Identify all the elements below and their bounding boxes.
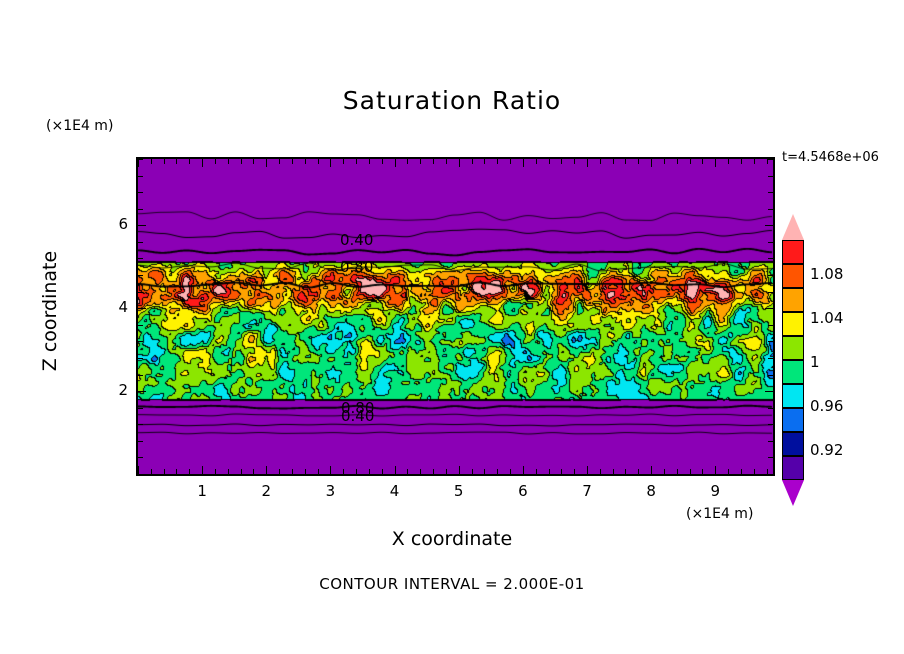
y-tick-left <box>138 209 143 210</box>
x-tick-bottom <box>176 469 177 474</box>
x-tick-top <box>741 159 742 164</box>
x-tick-top <box>228 159 229 164</box>
x-tick-top <box>176 159 177 164</box>
x-tick-bottom <box>369 469 370 474</box>
colorbar-band[interactable] <box>782 360 804 384</box>
y-tick-left <box>138 358 143 359</box>
x-tick-bottom <box>574 469 575 474</box>
x-tick-bottom <box>497 469 498 474</box>
x-tick-bottom <box>382 469 383 474</box>
x-tick-top <box>523 159 524 167</box>
contour-label: 0.40 <box>340 231 373 249</box>
x-tick-top <box>151 159 152 164</box>
colorbar-band[interactable] <box>782 264 804 288</box>
x-tick-bottom <box>510 469 511 474</box>
x-tick-bottom <box>318 469 319 474</box>
y-tick-left <box>138 457 143 458</box>
y-tick-right <box>768 209 773 210</box>
x-tick-bottom <box>292 469 293 474</box>
x-tick-bottom <box>330 466 331 474</box>
x-tick-bottom <box>523 466 524 474</box>
x-tick-top <box>202 159 203 167</box>
y-tick-right <box>768 424 773 425</box>
x-tick-top <box>613 159 614 164</box>
y-tick-right <box>768 375 773 376</box>
x-tick-bottom <box>228 469 229 474</box>
x-tick-top <box>241 159 242 164</box>
x-tick-top <box>677 159 678 164</box>
x-tick-top <box>728 159 729 164</box>
x-tick-top <box>510 159 511 164</box>
x-tick-bottom <box>189 469 190 474</box>
y-tick-left <box>138 292 143 293</box>
y-tick-left <box>138 225 146 226</box>
y-tick-left <box>138 408 143 409</box>
x-tick-top <box>292 159 293 164</box>
y-tick-right <box>765 225 773 226</box>
x-tick-bottom <box>343 469 344 474</box>
y-axis-title: Z coordinate <box>39 231 61 391</box>
x-tick-top <box>638 159 639 164</box>
colorbar-tick-label: 1.04 <box>810 309 843 327</box>
y-tick-right <box>768 441 773 442</box>
x-tick-top <box>715 159 716 167</box>
y-tick-left <box>138 341 143 342</box>
y-tick-left <box>138 308 146 309</box>
x-tick-bottom <box>356 469 357 474</box>
x-tick-label: 1 <box>187 482 217 500</box>
x-tick-top <box>330 159 331 167</box>
y-tick-left <box>138 391 146 392</box>
x-tick-label: 3 <box>315 482 345 500</box>
y-tick-right <box>768 275 773 276</box>
x-tick-top <box>702 159 703 164</box>
colorbar-tick-label: 1 <box>810 353 820 371</box>
x-tick-top <box>484 159 485 164</box>
x-tick-top <box>754 159 755 164</box>
y-tick-right <box>768 358 773 359</box>
x-tick-bottom <box>638 469 639 474</box>
x-tick-top <box>549 159 550 164</box>
x-tick-bottom <box>549 469 550 474</box>
contour-plot[interactable] <box>136 157 775 476</box>
x-tick-bottom <box>741 469 742 474</box>
x-tick-bottom <box>395 466 396 474</box>
x-tick-bottom <box>767 469 768 474</box>
x-tick-bottom <box>754 469 755 474</box>
x-tick-top <box>266 159 267 167</box>
y-tick-left <box>138 159 143 160</box>
colorbar-over-arrow <box>782 214 804 240</box>
y-tick-label: 4 <box>106 298 128 316</box>
x-tick-top <box>305 159 306 164</box>
x-tick-top <box>138 159 139 167</box>
colorbar-tick-label: 1.08 <box>810 265 843 283</box>
x-axis-unit-label: (×1E4 m) <box>686 506 753 522</box>
colorbar-band[interactable] <box>782 288 804 312</box>
x-tick-top <box>369 159 370 164</box>
x-tick-label: 4 <box>380 482 410 500</box>
colorbar-under-arrow <box>782 480 804 506</box>
x-tick-bottom <box>433 469 434 474</box>
x-tick-bottom <box>459 466 460 474</box>
x-tick-top <box>446 159 447 164</box>
x-tick-label: 9 <box>700 482 730 500</box>
colorbar-band[interactable] <box>782 408 804 432</box>
contour-label: 0.40 <box>341 407 374 425</box>
x-tick-bottom <box>484 469 485 474</box>
y-tick-right <box>768 341 773 342</box>
x-tick-bottom <box>266 466 267 474</box>
x-tick-bottom <box>587 466 588 474</box>
x-tick-label: 7 <box>572 482 602 500</box>
x-tick-top <box>625 159 626 164</box>
y-tick-left <box>138 176 143 177</box>
x-tick-top <box>664 159 665 164</box>
x-tick-top <box>164 159 165 164</box>
contour-field-canvas <box>138 159 773 474</box>
x-tick-top <box>253 159 254 164</box>
x-tick-bottom <box>151 469 152 474</box>
x-tick-bottom <box>164 469 165 474</box>
y-tick-label: 6 <box>106 215 128 233</box>
y-tick-right <box>768 292 773 293</box>
y-tick-right <box>768 242 773 243</box>
y-tick-left <box>138 275 143 276</box>
x-tick-label: 2 <box>251 482 281 500</box>
y-tick-right <box>768 258 773 259</box>
x-tick-bottom <box>625 469 626 474</box>
y-tick-right <box>765 308 773 309</box>
x-tick-bottom <box>138 466 139 474</box>
timestamp-label: t=4.5468e+06 <box>782 150 879 165</box>
x-tick-bottom <box>305 469 306 474</box>
colorbar-tick-label: 0.92 <box>810 441 843 459</box>
y-axis-unit-label: (×1E4 m) <box>46 118 113 134</box>
y-tick-right <box>768 176 773 177</box>
y-tick-right <box>768 408 773 409</box>
x-tick-bottom <box>600 469 601 474</box>
x-tick-bottom <box>202 466 203 474</box>
x-tick-top <box>561 159 562 164</box>
x-tick-label: 5 <box>444 482 474 500</box>
x-tick-top <box>407 159 408 164</box>
x-tick-bottom <box>561 469 562 474</box>
y-tick-label: 2 <box>106 381 128 399</box>
x-tick-top <box>318 159 319 164</box>
x-tick-bottom <box>215 469 216 474</box>
x-tick-bottom <box>241 469 242 474</box>
x-tick-bottom <box>446 469 447 474</box>
x-tick-top <box>587 159 588 167</box>
x-tick-bottom <box>472 469 473 474</box>
colorbar-band[interactable] <box>782 384 804 408</box>
x-tick-top <box>574 159 575 164</box>
y-tick-right <box>768 457 773 458</box>
y-tick-right <box>768 192 773 193</box>
x-tick-top <box>433 159 434 164</box>
y-tick-left <box>138 441 143 442</box>
x-tick-bottom <box>253 469 254 474</box>
x-tick-bottom <box>715 466 716 474</box>
x-tick-bottom <box>536 469 537 474</box>
colorbar-band[interactable] <box>782 312 804 336</box>
x-tick-label: 8 <box>636 482 666 500</box>
x-tick-bottom <box>279 469 280 474</box>
x-tick-bottom <box>690 469 691 474</box>
x-tick-bottom <box>613 469 614 474</box>
y-tick-right <box>768 325 773 326</box>
contour-interval-note: CONTOUR INTERVAL = 2.000E-01 <box>0 575 904 593</box>
page-title: Saturation Ratio <box>0 86 904 115</box>
y-tick-left <box>138 375 143 376</box>
colorbar-band[interactable] <box>782 432 804 456</box>
y-tick-left <box>138 325 143 326</box>
x-tick-top <box>472 159 473 164</box>
x-tick-top <box>189 159 190 164</box>
x-tick-top <box>215 159 216 164</box>
x-tick-label: 6 <box>508 482 538 500</box>
x-tick-top <box>600 159 601 164</box>
y-tick-left <box>138 242 143 243</box>
colorbar-band[interactable] <box>782 240 804 264</box>
x-tick-bottom <box>651 466 652 474</box>
y-tick-right <box>765 391 773 392</box>
x-tick-top <box>497 159 498 164</box>
colorbar[interactable]: 1.081.0410.960.92 <box>782 214 804 514</box>
x-tick-top <box>356 159 357 164</box>
x-tick-bottom <box>728 469 729 474</box>
x-tick-top <box>420 159 421 164</box>
contour-label: 0.80 <box>340 258 373 276</box>
x-tick-bottom <box>702 469 703 474</box>
colorbar-band[interactable] <box>782 456 804 480</box>
colorbar-tick-label: 0.96 <box>810 397 843 415</box>
x-tick-top <box>690 159 691 164</box>
x-tick-bottom <box>407 469 408 474</box>
x-tick-top <box>382 159 383 164</box>
y-tick-left <box>138 424 143 425</box>
x-tick-top <box>536 159 537 164</box>
x-tick-bottom <box>677 469 678 474</box>
x-tick-top <box>651 159 652 167</box>
y-tick-right <box>768 159 773 160</box>
x-tick-top <box>459 159 460 167</box>
colorbar-band[interactable] <box>782 336 804 360</box>
x-tick-bottom <box>420 469 421 474</box>
x-tick-top <box>343 159 344 164</box>
x-tick-top <box>395 159 396 167</box>
x-tick-top <box>279 159 280 164</box>
y-tick-left <box>138 258 143 259</box>
y-tick-left <box>138 192 143 193</box>
x-axis-title: X coordinate <box>0 528 904 550</box>
x-tick-bottom <box>664 469 665 474</box>
